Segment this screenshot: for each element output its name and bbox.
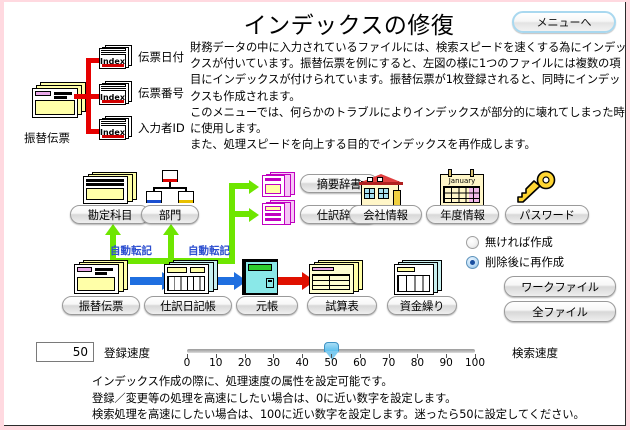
calendar-icon: January bbox=[436, 169, 488, 208]
index-stack-icon: Index bbox=[99, 81, 133, 107]
slider-tick-label: 30 bbox=[267, 357, 280, 369]
page-title: インデックスの修復 bbox=[199, 6, 499, 40]
index-repair-window: インデックスの修復 メニューへ 財務データの中に入力されているファイルには、検索… bbox=[4, 2, 626, 426]
intro-description: 財務データの中に入力されているファイルには、検索スピードを速くする為にインデック… bbox=[190, 40, 630, 153]
index-concept-diagram: 振替伝票 Index 伝票日付 Index 伝票番号 Index 入力者ID bbox=[14, 42, 189, 157]
flow-button-transfer-slip[interactable]: 振替伝票 bbox=[62, 296, 140, 315]
all-files-button[interactable]: 全ファイル bbox=[504, 301, 616, 322]
radio-option-create-if-missing[interactable]: 無ければ作成 bbox=[466, 234, 553, 250]
index-stack-icon: Index bbox=[99, 45, 133, 71]
document-stack-icon bbox=[83, 172, 139, 206]
ledger-book-icon bbox=[242, 259, 288, 297]
key-glyph bbox=[512, 170, 560, 208]
slider-tick-label: 60 bbox=[353, 357, 366, 369]
slider-tick-label: 50 bbox=[324, 357, 337, 369]
green-arrow-head bbox=[163, 224, 179, 235]
index-item-label: 入力者ID bbox=[138, 120, 185, 136]
flow-button-company-info[interactable]: 会社情報 bbox=[349, 205, 422, 224]
diagram-source-label: 振替伝票 bbox=[24, 130, 70, 146]
radio-label: 削除後に再作成 bbox=[485, 254, 564, 270]
slider-tick-label: 40 bbox=[296, 357, 309, 369]
slider-tick-label: 90 bbox=[440, 357, 453, 369]
slider-tick-label: 20 bbox=[238, 357, 251, 369]
green-arrow-head bbox=[249, 180, 259, 194]
org-chart-icon bbox=[146, 170, 194, 206]
slider-tick-label: 80 bbox=[411, 357, 424, 369]
radio-indicator-selected[interactable] bbox=[466, 256, 479, 269]
speed-value-input[interactable]: 50 bbox=[36, 342, 94, 362]
menu-button[interactable]: メニューへ bbox=[512, 11, 616, 33]
trial-balance-icon bbox=[309, 260, 365, 296]
flow-button-password[interactable]: パスワード bbox=[505, 205, 589, 224]
flow-button-cash-flow[interactable]: 資金繰り bbox=[387, 296, 457, 315]
journal-stack-icon bbox=[164, 260, 220, 296]
pink-card-stack-icon bbox=[262, 172, 296, 198]
key-icon bbox=[512, 170, 560, 208]
green-flow-line bbox=[168, 234, 174, 260]
green-arrow-head bbox=[249, 208, 259, 222]
flow-button-department[interactable]: 部門 bbox=[141, 205, 199, 224]
slider-tick-label: 70 bbox=[382, 357, 395, 369]
cashflow-stack-icon bbox=[394, 260, 446, 296]
flow-button-trial-balance[interactable]: 試算表 bbox=[307, 296, 377, 315]
green-flow-line bbox=[229, 183, 251, 189]
work-file-button[interactable]: ワークファイル bbox=[504, 276, 616, 297]
calendar-month-label: January bbox=[442, 176, 482, 185]
slider-tick-label: 0 bbox=[184, 357, 191, 369]
index-stack-icon: Index bbox=[99, 116, 133, 142]
flow-button-journal-book[interactable]: 仕訳日記帳 bbox=[144, 296, 232, 315]
slip-stack-icon bbox=[74, 260, 130, 296]
register-speed-label: 登録速度 bbox=[104, 345, 150, 361]
speed-slider-ticks: 0102030405060708090100 bbox=[187, 354, 475, 370]
slider-tick-label: 10 bbox=[209, 357, 222, 369]
radio-indicator[interactable] bbox=[466, 236, 479, 249]
flow-button-account-title[interactable]: 勘定科目 bbox=[70, 205, 150, 224]
blue-flow-arrow bbox=[130, 277, 164, 285]
auto-transfer-label: 自動転記 bbox=[110, 243, 152, 258]
footer-description: インデックス作成の際に、処理速度の属性を設定可能です。 登録／変更等の処理を高速… bbox=[92, 374, 612, 424]
index-item-label: 伝票番号 bbox=[138, 85, 184, 101]
index-item-label: 伝票日付 bbox=[138, 49, 184, 65]
flow-button-fiscal-year-info[interactable]: 年度情報 bbox=[426, 205, 499, 224]
auto-transfer-label: 自動転記 bbox=[188, 243, 230, 258]
slider-tick-label: 100 bbox=[465, 357, 485, 369]
green-flow-line bbox=[229, 211, 251, 217]
green-arrow-head bbox=[105, 224, 121, 235]
radio-option-recreate-after-delete[interactable]: 削除後に再作成 bbox=[466, 254, 564, 270]
search-speed-label: 検索速度 bbox=[512, 345, 558, 361]
pink-card-stack-icon bbox=[262, 200, 296, 226]
radio-label: 無ければ作成 bbox=[485, 234, 553, 250]
slip-stack-icon bbox=[32, 82, 88, 120]
flow-button-general-ledger[interactable]: 元帳 bbox=[236, 296, 298, 315]
house-icon bbox=[359, 172, 409, 208]
